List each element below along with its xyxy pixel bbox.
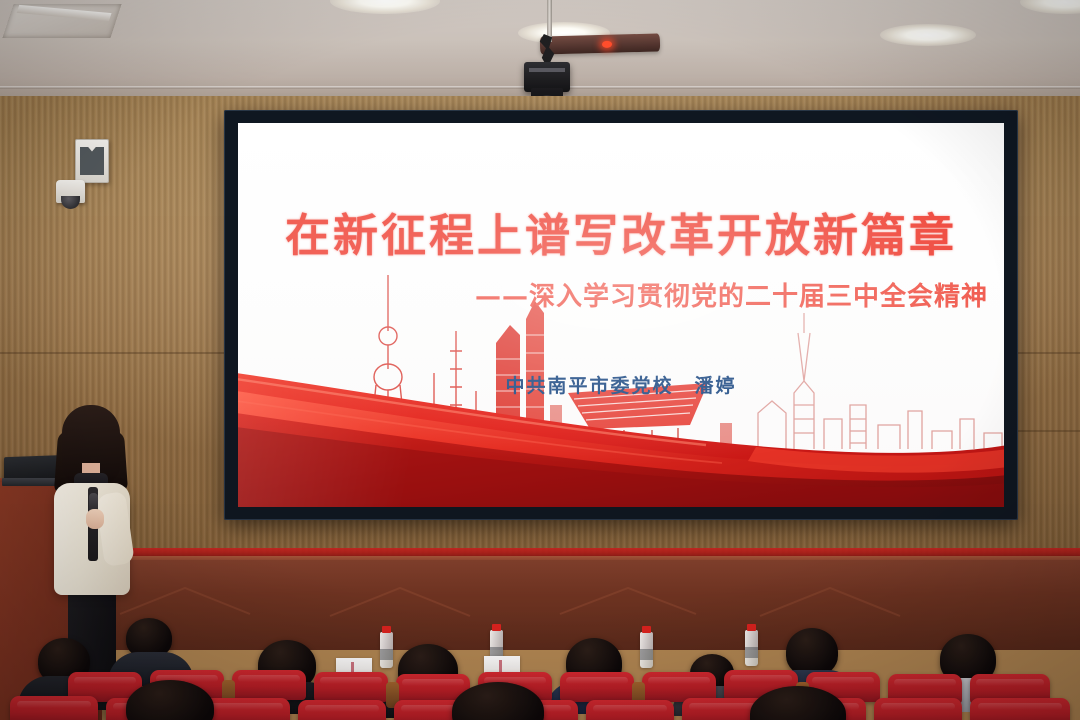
audience-head [786,628,838,676]
dome-camera-icon [56,180,85,203]
theater-seat [560,672,634,702]
air-vent-icon [2,4,121,38]
theater-seat [874,698,962,720]
ceiling-downlight-icon [1020,0,1080,14]
auditorium-photo: 在新征程上谱写改革开放新篇章 ——深入学习贯彻党的二十届三中全会精神 中共南平市… [0,0,1080,720]
audience-seating [0,596,1080,720]
water-bottle [380,632,393,668]
theater-seat [202,698,290,720]
theater-seat [232,670,306,700]
theater-seat [314,672,388,702]
slide-title: 在新征程上谱写改革开放新篇章 [238,199,1004,264]
slide-presenter-line: 中共南平市委党校 潘婷 [238,371,1004,398]
water-bottle [640,632,653,668]
slide-subtitle: ——深入学习贯彻党的二十届三中全会精神 [475,276,988,313]
speaker-panel-icon [75,139,109,183]
ceiling-downlight-icon [330,0,440,14]
presentation-screen: 在新征程上谱写改革开放新篇章 ——深入学习贯彻党的二十届三中全会精神 中共南平市… [238,123,1004,507]
red-ribbon-graphic [238,317,1004,507]
presenter-hand [86,509,104,529]
theater-seat [10,696,98,720]
theater-seat [970,698,1070,720]
indicator-light-icon [540,33,660,54]
theater-seat [586,700,674,720]
water-bottle [745,630,758,666]
theater-seat [298,700,386,720]
ceiling-downlight-icon [880,24,976,46]
